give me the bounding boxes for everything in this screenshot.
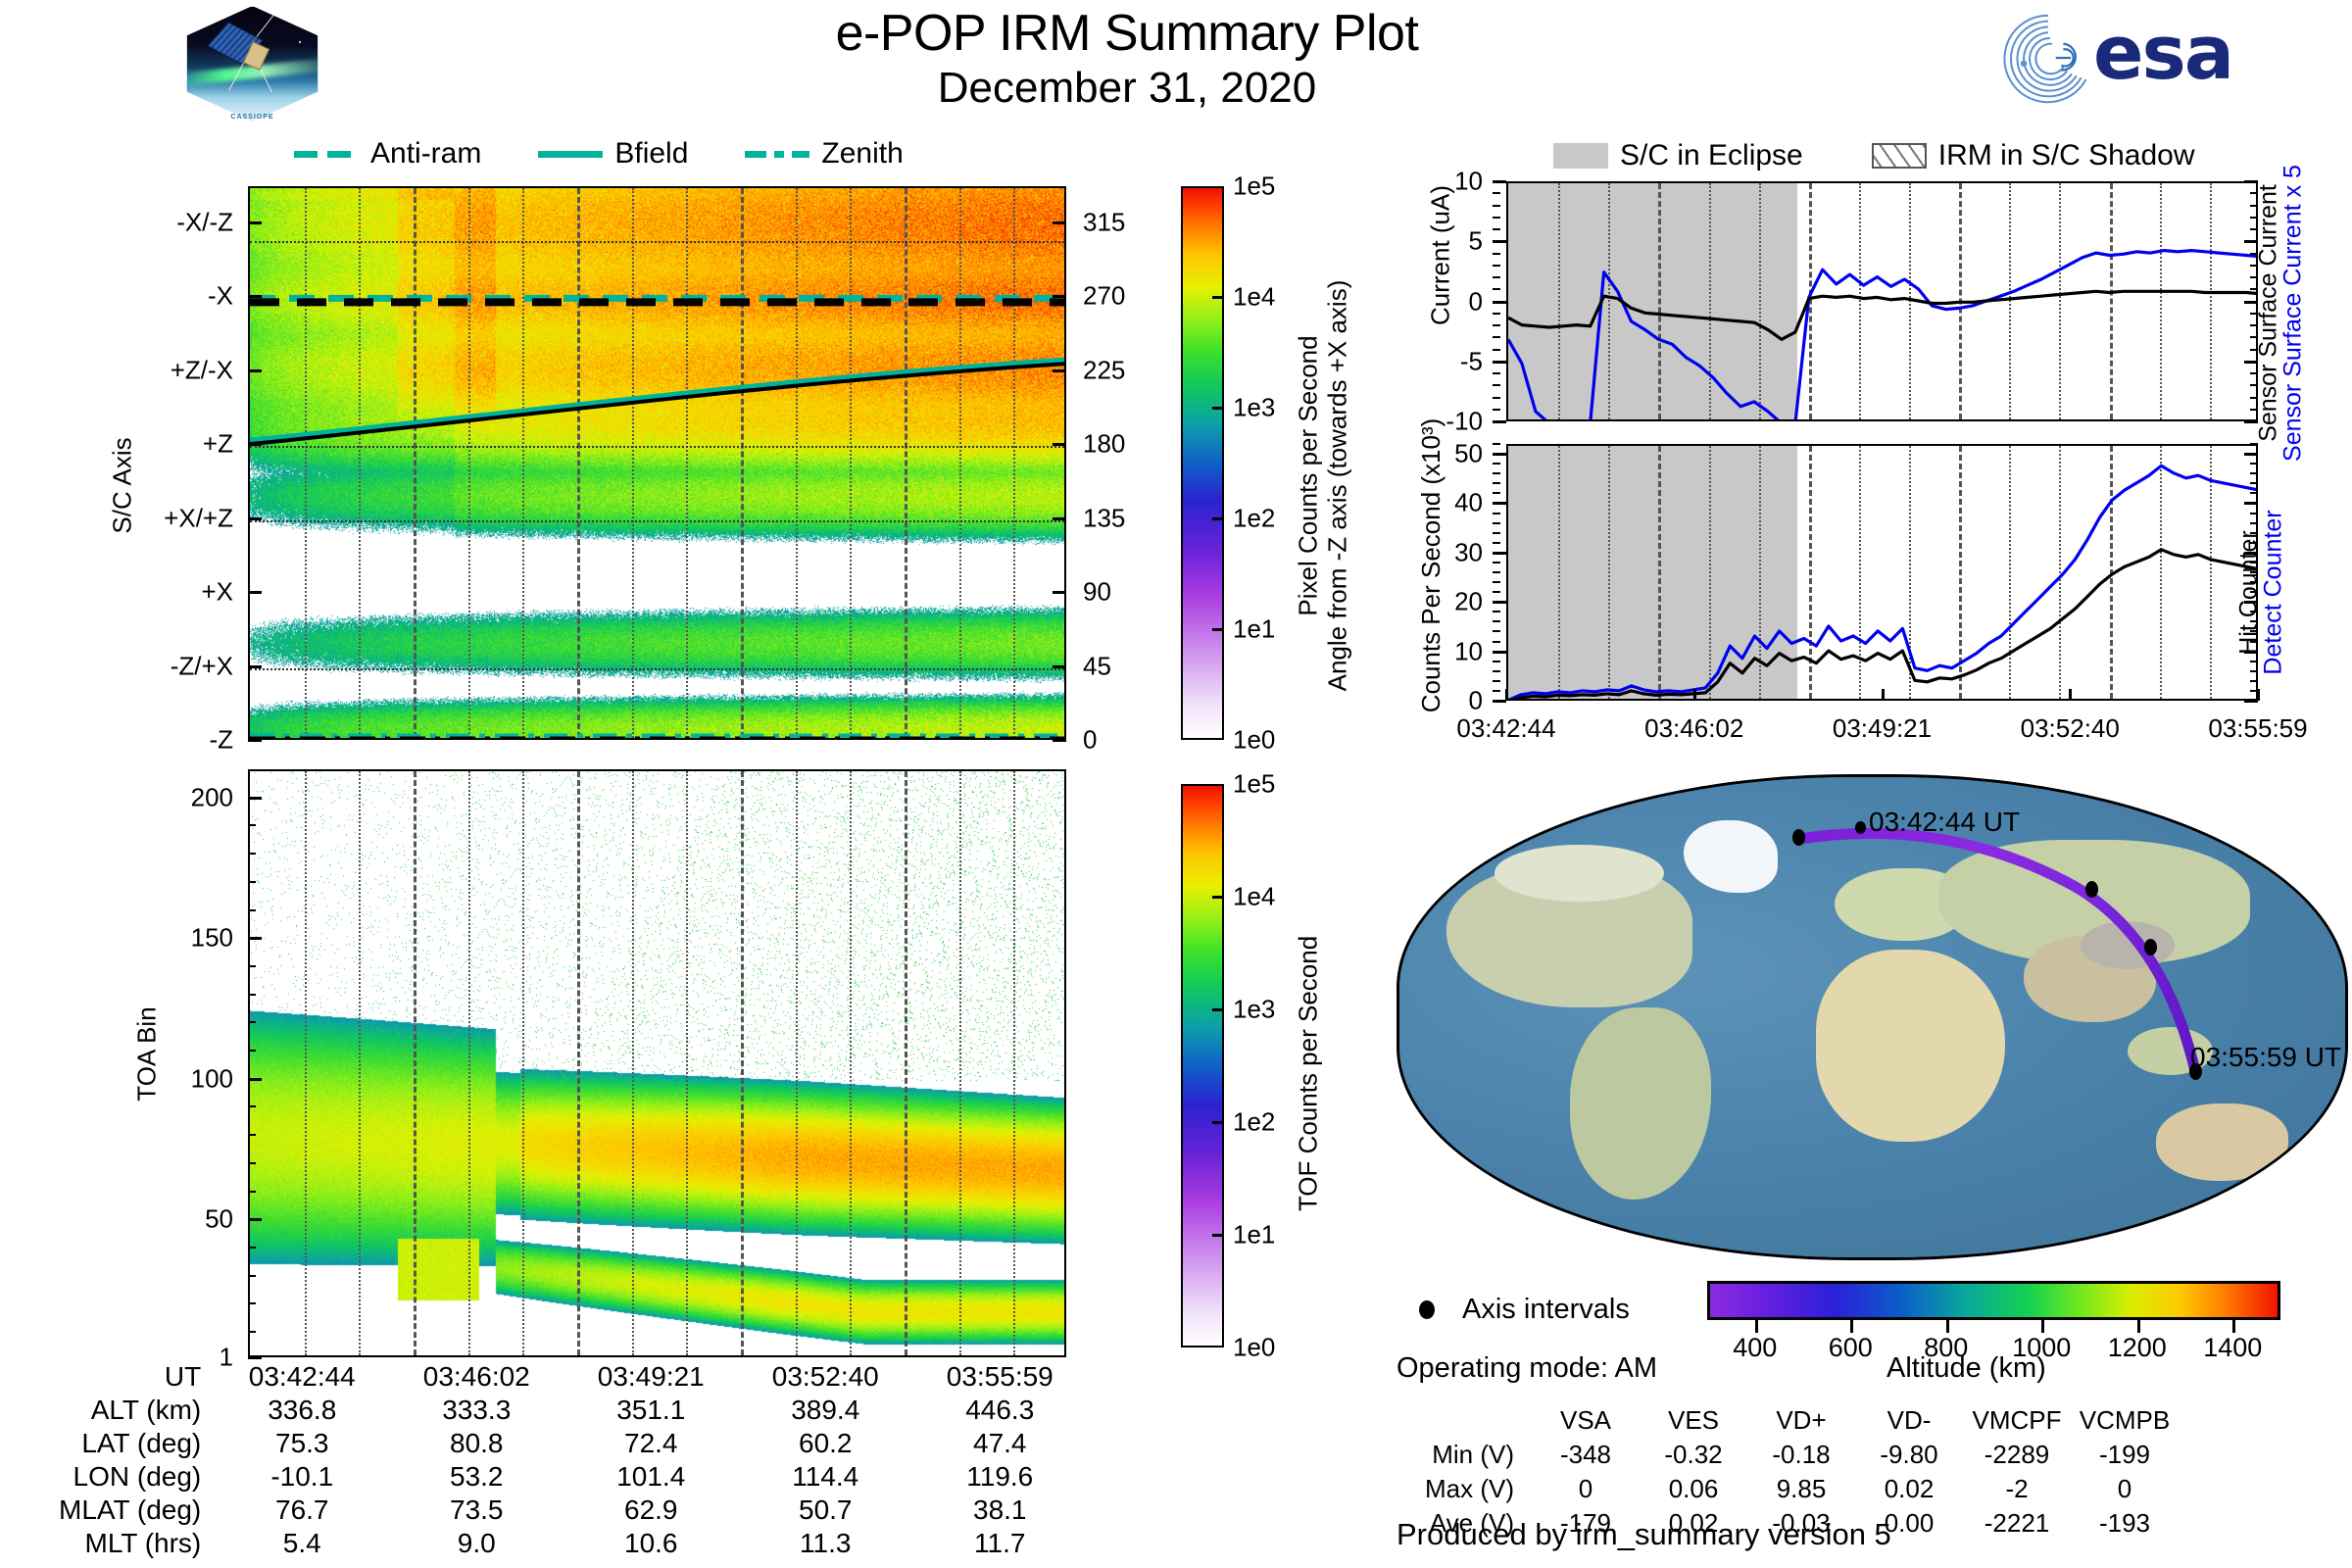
- panel4-xtick-label: 03:49:21: [1775, 713, 1990, 744]
- tick-mark: [1882, 689, 1885, 701]
- colorbar-tick-label: 1e5: [1233, 769, 1275, 800]
- minor-tick-mark: [1493, 180, 1500, 182]
- voltage-cell: -0.18: [1747, 1438, 1855, 1472]
- minor-tick-mark: [248, 1134, 256, 1136]
- minor-tick-mark: [248, 1218, 256, 1220]
- voltage-cell: -199: [2071, 1438, 2179, 1472]
- minor-tick-mark: [1493, 562, 1500, 563]
- altitude-tick-mark: [2137, 1320, 2140, 1333]
- eclipse-fill-swatch: [1553, 143, 1608, 169]
- minor-tick-mark: [1493, 661, 1500, 662]
- minor-tick-mark: [1493, 253, 1500, 255]
- colorbar-tick-mark: [1212, 1234, 1224, 1237]
- tick-mark: [248, 591, 262, 594]
- grid-line: [905, 771, 907, 1355]
- minor-tick-mark: [1493, 571, 1500, 573]
- minor-tick-mark: [1493, 349, 1500, 351]
- tick-mark: [248, 295, 262, 298]
- sc-axis-spectrogram-plot[interactable]: [248, 186, 1066, 740]
- ephemeris-cell: 73.5: [389, 1494, 563, 1527]
- colorbar-tick-mark: [1212, 1121, 1224, 1124]
- ephemeris-cell: 03:49:21: [563, 1360, 738, 1394]
- grid-line: [522, 771, 524, 1355]
- shadow-hatch-swatch: [1872, 143, 1927, 169]
- table-row: ALT (km)336.8333.3351.1389.4446.3: [59, 1394, 1087, 1427]
- zenith-line-swatch: [745, 151, 809, 158]
- minor-tick-mark: [248, 994, 256, 996]
- tick-mark: [1693, 689, 1696, 701]
- altitude-tick-mark: [2041, 1320, 2044, 1333]
- ephemeris-cell: 5.4: [215, 1527, 389, 1560]
- ephemeris-cell: 389.4: [738, 1394, 912, 1427]
- ephemeris-cell: 75.3: [215, 1427, 389, 1460]
- grid-line: [577, 771, 580, 1355]
- ephemeris-cell: 03:55:59: [912, 1360, 1087, 1394]
- minor-tick-mark: [1493, 453, 1500, 455]
- voltage-cell: 9.85: [1747, 1472, 1855, 1506]
- ytick-label: 50: [1382, 439, 1483, 469]
- minor-tick-mark: [1493, 522, 1500, 524]
- legend-item-irm-shadow: IRM in S/C Shadow: [1872, 139, 2195, 172]
- minor-tick-mark: [248, 1302, 256, 1304]
- voltage-cell: -2289: [1963, 1438, 2071, 1472]
- colorbar-tick-label: 1e4: [1233, 882, 1275, 912]
- voltage-column-header: VMCPF: [1963, 1403, 2071, 1438]
- voltage-cell: -2: [1963, 1472, 2071, 1506]
- colorbar-tick-label: 1e0: [1233, 1333, 1275, 1363]
- grid-line: [632, 771, 634, 1355]
- colorbar-tick-label: 1e1: [1233, 1220, 1275, 1250]
- minor-tick-mark: [248, 1275, 256, 1277]
- ephemeris-cell: 351.1: [563, 1394, 738, 1427]
- panel1-ytick-label: +Z/-X: [59, 355, 233, 385]
- minor-tick-mark: [1493, 205, 1500, 207]
- minor-tick-mark: [1493, 601, 1500, 603]
- minor-tick-mark: [248, 909, 256, 911]
- ytick-label: 40: [1382, 488, 1483, 518]
- minor-tick-mark: [248, 1247, 256, 1249]
- legend-label-sc-eclipse: S/C in Eclipse: [1620, 139, 1803, 172]
- ytick-label: 30: [1382, 537, 1483, 567]
- colorbar-tick-label: 1e4: [1233, 282, 1275, 313]
- voltage-cell: -0.32: [1640, 1438, 1747, 1472]
- panel4-right-label-black: Hit Counter: [2235, 441, 2264, 745]
- altitude-tick-mark: [2232, 1320, 2235, 1333]
- tick-mark: [1053, 739, 1066, 742]
- grid-line: [359, 771, 361, 1355]
- panel1-right-ytick-label: 0: [1083, 725, 1171, 756]
- tick-mark: [248, 665, 262, 668]
- panel2-ytick-label: 100: [78, 1063, 233, 1094]
- altitude-colorbar-label: Altitude (km): [1886, 1352, 2046, 1385]
- ephemeris-row-label: LON (deg): [59, 1460, 215, 1494]
- table-row: UT03:42:4403:46:0203:49:2103:52:4003:55:…: [59, 1360, 1087, 1394]
- legend-label-anti-ram: Anti-ram: [370, 137, 481, 171]
- minor-tick-mark: [1493, 472, 1500, 474]
- panel4-right-label-blue: Detect Counter: [2260, 441, 2288, 745]
- ephemeris-cell: 11.3: [738, 1527, 912, 1560]
- grid-line: [796, 771, 798, 1355]
- minor-tick-mark: [1493, 276, 1500, 278]
- ytick-label: 10: [1382, 636, 1483, 666]
- spectrogram-legend: Anti-ram Bfield Zenith: [294, 137, 904, 171]
- ephemeris-cell: 53.2: [389, 1460, 563, 1494]
- minor-tick-mark: [1493, 542, 1500, 544]
- minor-tick-mark: [248, 1331, 256, 1333]
- tick-mark: [1505, 689, 1508, 701]
- minor-tick-mark: [1493, 513, 1500, 514]
- panel1-ytick-label: +Z: [59, 429, 233, 460]
- colorbar-tick-label: 1e5: [1233, 171, 1275, 202]
- table-row: Min (V)-348-0.32-0.18-9.80-2289-199: [1396, 1438, 2179, 1472]
- minor-tick-mark: [1493, 482, 1500, 484]
- timeseries-legend: S/C in Eclipse IRM in S/C Shadow: [1553, 139, 2195, 172]
- table-row: LON (deg)-10.153.2101.4114.4119.6: [59, 1460, 1087, 1494]
- panel2-ytick-label: 150: [78, 923, 233, 954]
- panel1-right-ytick-label: 135: [1083, 503, 1171, 533]
- minor-tick-mark: [1493, 361, 1500, 363]
- track-end-label: 03:55:59 UT: [2190, 1042, 2341, 1073]
- panel1-right-ytick-label: 90: [1083, 577, 1171, 608]
- ephemeris-cell: 76.7: [215, 1494, 389, 1527]
- tick-mark: [248, 369, 262, 372]
- current-plot[interactable]: [1506, 181, 2258, 421]
- ground-track-map[interactable]: [1396, 774, 2348, 1260]
- panel1-ylabel: S/C Axis: [108, 359, 138, 613]
- orbit-ground-track: [1399, 777, 2345, 1257]
- series-line: [1508, 465, 2256, 699]
- altitude-colorbar: [1707, 1281, 2280, 1320]
- minor-tick-mark: [1493, 581, 1500, 583]
- voltage-column-header: VD+: [1747, 1403, 1855, 1438]
- grid-line: [741, 771, 744, 1355]
- ytick-label: 10: [1382, 167, 1483, 197]
- panel1-right-ytick-label: 45: [1083, 651, 1171, 681]
- ytick-label: 20: [1382, 587, 1483, 617]
- colorbar-tick-label: 1e2: [1233, 504, 1275, 534]
- minor-tick-mark: [1493, 324, 1500, 326]
- ephemeris-cell: 03:52:40: [738, 1360, 912, 1394]
- legend-item-bfield: Bfield: [538, 137, 688, 171]
- minor-tick-mark: [248, 824, 256, 826]
- ephemeris-cell: 03:46:02: [389, 1360, 563, 1394]
- ephemeris-cell: 62.9: [563, 1494, 738, 1527]
- tick-mark: [248, 1356, 262, 1359]
- panel1-ytick-label: -Z: [59, 725, 233, 756]
- series-line: [1508, 251, 2256, 419]
- tick-mark: [1053, 665, 1066, 668]
- tick-mark: [2069, 689, 2072, 701]
- ytick-label: -5: [1382, 346, 1483, 376]
- voltage-column-header: VCMPB: [2071, 1403, 2179, 1438]
- ephemeris-cell: -10.1: [215, 1460, 389, 1494]
- minor-tick-mark: [1493, 552, 1500, 554]
- title-block: e-POP IRM Summary Plot December 31, 2020: [686, 4, 1568, 114]
- colorbar-tick-mark: [1212, 628, 1224, 631]
- minor-tick-mark: [248, 1021, 256, 1023]
- panel4-xtick-label: 03:46:02: [1587, 713, 1802, 744]
- panel1-right-ytick-label: 270: [1083, 281, 1171, 312]
- altitude-tick-label: 1200: [2108, 1333, 2167, 1363]
- ephemeris-cell: 333.3: [389, 1394, 563, 1427]
- voltage-cell: -348: [1532, 1438, 1640, 1472]
- table-row: MLAT (deg)76.773.562.950.738.1: [59, 1494, 1087, 1527]
- track-marker: [1792, 829, 1805, 846]
- track-marker: [2144, 939, 2157, 955]
- panel1-ytick-label: +X/+Z: [59, 503, 233, 533]
- voltage-cell: -193: [2071, 1506, 2179, 1541]
- ephemeris-cell: 10.6: [563, 1527, 738, 1560]
- toa-bin-spectrogram-canvas: [250, 771, 1064, 1355]
- tick-mark: [1053, 517, 1066, 520]
- table-row: Max (V)00.069.850.02-20: [1396, 1472, 2179, 1506]
- minor-tick-mark: [1493, 680, 1500, 682]
- colorbar-tick-mark: [1212, 896, 1224, 899]
- anti-ram-line-swatch: [294, 151, 359, 158]
- minor-tick-mark: [1493, 313, 1500, 315]
- colorbar-tick-label: 1e3: [1233, 393, 1275, 423]
- ephemeris-cell: 03:42:44: [215, 1360, 389, 1394]
- tick-mark: [1053, 369, 1066, 372]
- tick-mark: [248, 739, 262, 742]
- minor-tick-mark: [1493, 397, 1500, 399]
- cassiope-mission-logo: CASSIOPE: [186, 6, 318, 122]
- colorbar-tick-mark: [1212, 517, 1224, 520]
- ephemeris-cell: 72.4: [563, 1427, 738, 1460]
- minor-tick-mark: [248, 1105, 256, 1107]
- voltage-cell: -9.80: [1855, 1438, 1963, 1472]
- legend-item-anti-ram: Anti-ram: [294, 137, 481, 171]
- ephemeris-row-label: LAT (deg): [59, 1427, 215, 1460]
- panel1-right-axis-label: Angle from -Z axis (towards +X axis): [1323, 192, 1353, 780]
- minor-tick-mark: [1493, 265, 1500, 267]
- minor-tick-mark: [248, 1162, 256, 1164]
- series-paths: [1508, 183, 2256, 419]
- grid-line: [414, 771, 416, 1355]
- minor-tick-mark: [248, 937, 256, 939]
- minor-tick-mark: [248, 1078, 256, 1080]
- voltage-corner-cell: [1396, 1403, 1532, 1438]
- minor-tick-mark: [1493, 641, 1500, 643]
- legend-item-zenith: Zenith: [745, 137, 903, 171]
- grid-line: [305, 771, 307, 1355]
- minor-tick-mark: [1493, 532, 1500, 534]
- panel1-ytick-label: -Z/+X: [59, 651, 233, 681]
- esa-agency-logo: esa: [1999, 10, 2303, 108]
- bfield-line-swatch: [538, 151, 603, 158]
- voltage-cell: -2221: [1963, 1506, 2071, 1541]
- legend-label-zenith: Zenith: [821, 137, 903, 171]
- minor-tick-mark: [1493, 670, 1500, 672]
- panel2-ytick-label: 200: [78, 782, 233, 812]
- axis-interval-marker-icon: [1419, 1300, 1435, 1319]
- minor-tick-mark: [1493, 384, 1500, 386]
- minor-tick-mark: [248, 853, 256, 855]
- colorbar-tick-mark: [1212, 407, 1224, 410]
- produced-by-footer: Produced by irm_summary version 5: [1396, 1517, 1891, 1552]
- panel1-ytick-label: -X: [59, 281, 233, 312]
- panel2-ytick-label: 50: [78, 1204, 233, 1235]
- ephemeris-cell: 114.4: [738, 1460, 912, 1494]
- ytick-label: 0: [1382, 686, 1483, 716]
- ytick-label: 5: [1382, 226, 1483, 257]
- minor-tick-mark: [248, 1050, 256, 1052]
- panel1-ytick-label: +X: [59, 577, 233, 608]
- ephemeris-cell: 9.0: [389, 1527, 563, 1560]
- panel1-right-ytick-label: 180: [1083, 429, 1171, 460]
- ephemeris-row-label: MLT (hrs): [59, 1527, 215, 1560]
- voltage-row-label: Max (V): [1396, 1472, 1532, 1506]
- toa-bin-spectrogram-plot[interactable]: [248, 769, 1066, 1357]
- counts-plot[interactable]: [1506, 444, 2258, 701]
- minor-tick-mark: [1493, 630, 1500, 632]
- voltage-cell: 0.02: [1855, 1472, 1963, 1506]
- minor-tick-mark: [1493, 700, 1500, 702]
- minor-tick-mark: [248, 797, 256, 799]
- mission-logo-label: CASSIOPE: [186, 114, 318, 121]
- minor-tick-mark: [1493, 409, 1500, 411]
- grid-line: [850, 771, 852, 1355]
- series-paths: [1508, 446, 2256, 699]
- minor-tick-mark: [248, 881, 256, 883]
- tick-mark: [1053, 443, 1066, 446]
- panel1-right-ytick-label: 315: [1083, 207, 1171, 237]
- track-start-dot: [1855, 821, 1866, 834]
- ephemeris-cell: 60.2: [738, 1427, 912, 1460]
- minor-tick-mark: [1493, 463, 1500, 465]
- minor-tick-mark: [1493, 420, 1500, 422]
- ephemeris-table: UT03:42:4403:46:0203:49:2103:52:4003:55:…: [59, 1360, 1087, 1560]
- ytick-label: 0: [1382, 286, 1483, 317]
- panel1-ytick-label: -X/-Z: [59, 207, 233, 237]
- voltage-cell: 0: [2071, 1472, 2179, 1506]
- grid-line: [686, 771, 688, 1355]
- legend-label-irm-shadow: IRM in S/C Shadow: [1938, 139, 2195, 172]
- ephemeris-cell: 50.7: [738, 1494, 912, 1527]
- ephemeris-cell: 101.4: [563, 1460, 738, 1494]
- tick-mark: [1053, 295, 1066, 298]
- ephemeris-cell: 38.1: [912, 1494, 1087, 1527]
- axis-intervals-legend-label: Axis intervals: [1462, 1294, 1630, 1326]
- ephemeris-row-label: UT: [59, 1360, 215, 1394]
- page-title: e-POP IRM Summary Plot: [686, 4, 1568, 63]
- altitude-tick-label: 400: [1733, 1333, 1777, 1363]
- minor-tick-mark: [1493, 492, 1500, 494]
- grid-line: [959, 771, 961, 1355]
- minor-tick-mark: [1493, 611, 1500, 612]
- track-marker: [2085, 881, 2098, 898]
- voltage-column-header: VD-: [1855, 1403, 1963, 1438]
- colorbar-tick-label: 1e3: [1233, 995, 1275, 1025]
- esa-wordmark: esa: [2093, 16, 2232, 90]
- ephemeris-cell: 11.7: [912, 1527, 1087, 1560]
- operating-mode-label: Operating mode: AM: [1396, 1352, 1657, 1385]
- panel4-xtick-label: 03:52:40: [1962, 713, 2178, 744]
- voltage-column-header: VSA: [1532, 1403, 1640, 1438]
- colorbar-tick-mark: [1212, 296, 1224, 299]
- ephemeris-cell: 119.6: [912, 1460, 1087, 1494]
- ephemeris-cell: 446.3: [912, 1394, 1087, 1427]
- panel1-right-ytick-label: 225: [1083, 355, 1171, 385]
- colorbar-tick-label: 1e0: [1233, 725, 1275, 756]
- tick-mark: [1053, 591, 1066, 594]
- tick-mark: [248, 443, 262, 446]
- grid-line: [1013, 771, 1015, 1355]
- minor-tick-mark: [1493, 502, 1500, 504]
- minor-tick-mark: [1493, 372, 1500, 374]
- ephemeris-row-label: ALT (km): [59, 1394, 215, 1427]
- legend-item-sc-eclipse: S/C in Eclipse: [1553, 139, 1803, 172]
- track-start-label: 03:42:44 UT: [1869, 807, 2020, 838]
- minor-tick-mark: [1493, 690, 1500, 692]
- table-header-row: VSAVESVD+VD-VMCPFVCMPB: [1396, 1403, 2179, 1438]
- voltage-row-label: Min (V): [1396, 1438, 1532, 1472]
- minor-tick-mark: [1493, 228, 1500, 230]
- tick-mark: [248, 517, 262, 520]
- minor-tick-mark: [1493, 192, 1500, 194]
- pixel-counts-colorbar: [1181, 186, 1224, 740]
- minor-tick-mark: [1493, 443, 1500, 445]
- minor-tick-mark: [1493, 288, 1500, 290]
- minor-tick-mark: [248, 965, 256, 967]
- voltage-cell: 0.06: [1640, 1472, 1747, 1506]
- legend-label-bfield: Bfield: [614, 137, 688, 171]
- minor-tick-mark: [1493, 301, 1500, 303]
- altitude-tick-label: 1400: [2203, 1333, 2262, 1363]
- tick-mark: [1053, 221, 1066, 224]
- pixel-counts-colorbar-label: Pixel Counts per Second: [1294, 182, 1324, 770]
- tof-counts-colorbar-label: TOF Counts per Second: [1294, 780, 1324, 1368]
- minor-tick-mark: [1493, 620, 1500, 622]
- minor-tick-mark: [1493, 651, 1500, 653]
- minor-tick-mark: [248, 1191, 256, 1193]
- page-subtitle: December 31, 2020: [686, 63, 1568, 114]
- overlay-traces-dark: [250, 188, 1064, 738]
- altitude-tick-mark: [1850, 1320, 1853, 1333]
- grid-line: [468, 771, 470, 1355]
- colorbar-tick-label: 1e2: [1233, 1107, 1275, 1138]
- series-line: [1508, 550, 2256, 699]
- panel2-ylabel: TOA Bin: [132, 927, 163, 1182]
- altitude-tick-mark: [1946, 1320, 1949, 1333]
- ephemeris-cell: 80.8: [389, 1427, 563, 1460]
- altitude-tick-mark: [1755, 1320, 1758, 1333]
- esa-swirl-icon: [1999, 12, 2097, 106]
- colorbar-tick-label: 1e1: [1233, 614, 1275, 645]
- altitude-tick-label: 600: [1829, 1333, 1873, 1363]
- minor-tick-mark: [1493, 240, 1500, 242]
- ephemeris-row-label: MLAT (deg): [59, 1494, 215, 1527]
- table-row: LAT (deg)75.380.872.460.247.4: [59, 1427, 1087, 1460]
- tof-counts-colorbar: [1181, 784, 1224, 1347]
- minor-tick-mark: [1493, 217, 1500, 219]
- minor-tick-mark: [1493, 591, 1500, 593]
- ephemeris-cell: 47.4: [912, 1427, 1087, 1460]
- table-row: MLT (hrs)5.49.010.611.311.7: [59, 1527, 1087, 1560]
- voltage-cell: 0: [1532, 1472, 1640, 1506]
- voltage-column-header: VES: [1640, 1403, 1747, 1438]
- tick-mark: [248, 221, 262, 224]
- ephemeris-cell: 336.8: [215, 1394, 389, 1427]
- minor-tick-mark: [1493, 336, 1500, 338]
- colorbar-tick-mark: [1212, 1008, 1224, 1011]
- panel4-xtick-label: 03:42:44: [1398, 713, 1614, 744]
